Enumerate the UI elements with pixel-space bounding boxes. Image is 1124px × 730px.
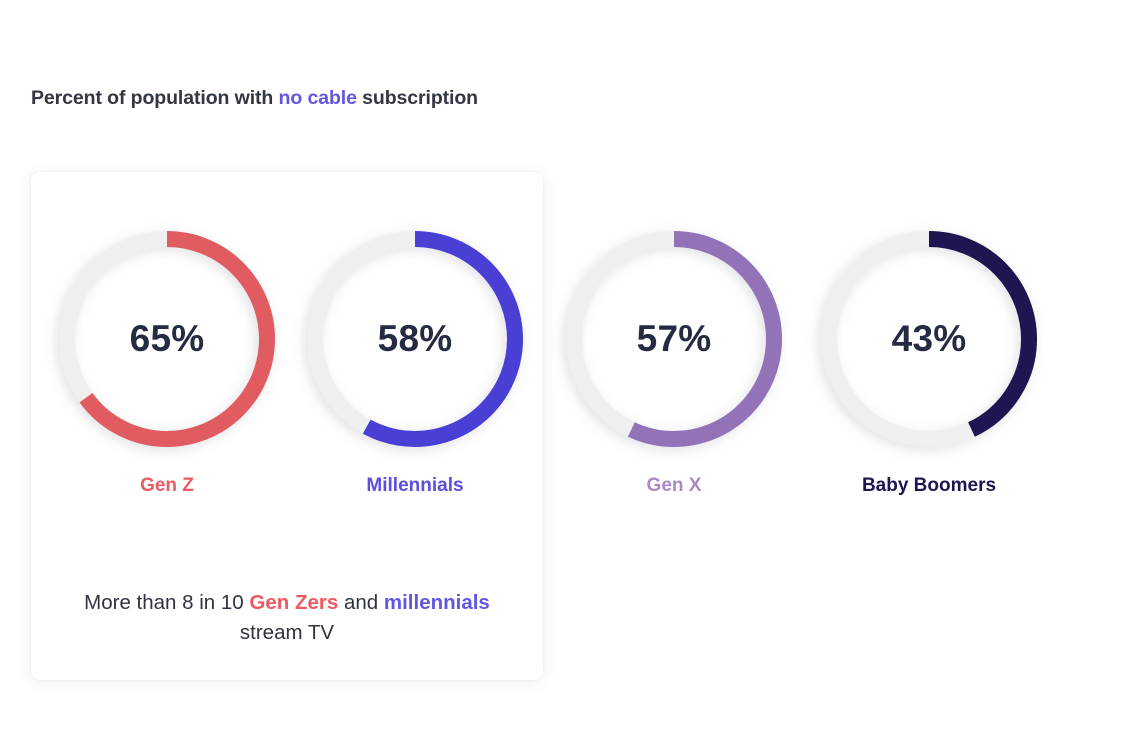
gauge-label-baby-boomers: Baby Boomers (781, 475, 1077, 497)
gauge-value-millennials: 58% (307, 231, 523, 447)
gauge-value-gen-x: 57% (566, 231, 782, 447)
gauge-label-gen-x: Gen X (526, 475, 822, 497)
page-title: Percent of population with no cable subs… (31, 87, 478, 110)
donut-gauge-baby-boomers[interactable]: 43% Baby Boomers (821, 231, 1037, 447)
title-prefix: Percent of population with (31, 87, 279, 109)
caption-highlight-gen-zers: Gen Zers (249, 591, 338, 614)
gauge-label-millennials: Millennials (267, 475, 563, 497)
caption-part-1: More than 8 in 10 (84, 591, 249, 614)
title-suffix: subscription (357, 87, 478, 109)
gauge-value-gen-z: 65% (59, 231, 275, 447)
caption-part-2: and (338, 591, 384, 614)
infographic-page: Percent of population with no cable subs… (0, 0, 1124, 730)
donut-gauge-gen-x[interactable]: 57% Gen X (566, 231, 782, 447)
title-highlight: no cable (279, 87, 357, 109)
donut-gauge-millennials[interactable]: 58% Millennials (307, 231, 523, 447)
card-caption: More than 8 in 10 Gen Zers and millennia… (55, 588, 519, 648)
donut-gauge-gen-z[interactable]: 65% Gen Z (59, 231, 275, 447)
caption-highlight-millennials: millennials (384, 591, 490, 614)
gauge-value-baby-boomers: 43% (821, 231, 1037, 447)
caption-part-3: stream TV (240, 621, 334, 644)
